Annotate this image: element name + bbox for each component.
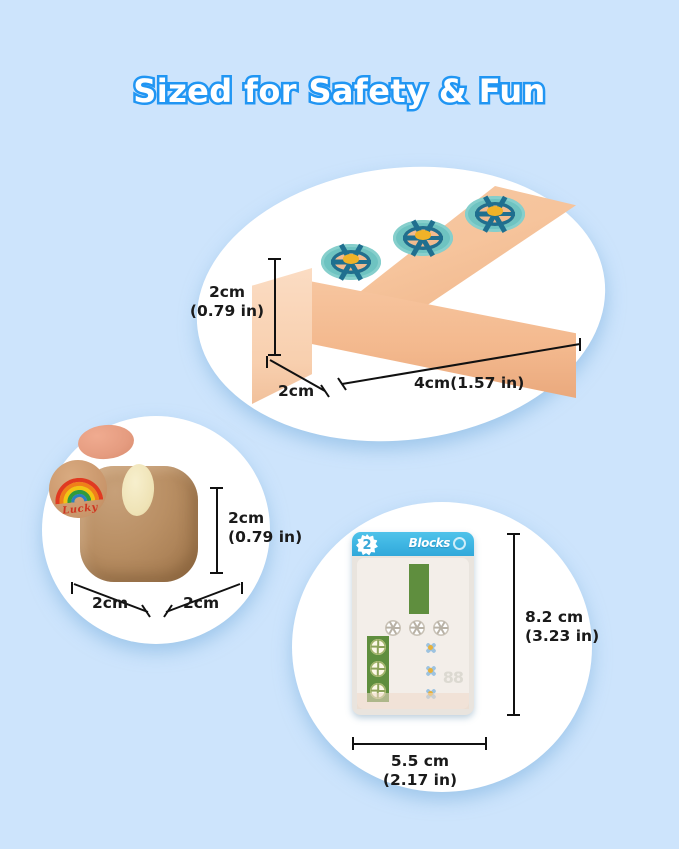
card-height-label-line2: (3.23 in): [525, 627, 599, 646]
die-face-front-rainbow: Lucky: [46, 457, 110, 521]
block-height-rule: [274, 258, 276, 355]
die-width-left-label: 2cm: [92, 594, 128, 613]
block-height-cap-top: [268, 258, 281, 260]
card-height-label-line1: 8.2 cm: [525, 608, 599, 627]
card-number-badge: 2: [356, 534, 378, 556]
wheel-medallion-icon: [393, 220, 453, 256]
card-width-label-line1: 5.5 cm: [352, 752, 488, 771]
block-depth-label: 2cm: [278, 382, 314, 401]
card-green-tall-block: [409, 564, 429, 614]
game-card: 2 Blocks: [352, 532, 474, 715]
card-header-bar: 2 Blocks: [352, 532, 474, 556]
wheel-medallion-icon: [321, 244, 381, 280]
die-width-right-text: 2cm: [183, 594, 219, 612]
block-height-label-line1: 2cm: [186, 283, 268, 302]
card-wheel-icon: [370, 661, 386, 677]
card-logo-text: Blocks: [409, 536, 450, 550]
block-height-label: 2cm (0.79 in): [186, 283, 268, 322]
die-width-left-text: 2cm: [92, 594, 128, 612]
card-width-cap-right: [485, 737, 487, 750]
block-height-label-line2: (0.79 in): [186, 302, 268, 321]
block-depth-label-text: 2cm: [278, 382, 314, 400]
card-flower-icon: [423, 663, 438, 678]
card-height-cap-bottom: [507, 714, 520, 716]
card-wheel-icon: [370, 639, 386, 655]
die-face-top: [77, 423, 136, 462]
card-face: 88: [357, 558, 469, 709]
wheel-medallion-icon: [465, 196, 525, 232]
card-wheel-icon: [385, 620, 401, 636]
block-length-label-text: 4cm(1.57 in): [414, 374, 524, 392]
card-width-label-line2: (2.17 in): [352, 771, 488, 790]
card-height-rule: [513, 533, 515, 715]
block-length-label: 4cm(1.57 in): [414, 374, 524, 393]
card-wheel-icon: [409, 620, 425, 636]
game-card-illustration: 2 Blocks: [292, 502, 592, 792]
card-width-label: 5.5 cm (2.17 in): [352, 752, 488, 791]
die-height-cap-top: [210, 487, 223, 489]
card-flower-icon: [423, 640, 438, 655]
card-width-cap-left: [352, 737, 354, 750]
card-footer-band: [357, 693, 469, 709]
card-wheel-icon: [433, 620, 449, 636]
page-title: Sized for Safety & Fun: [0, 72, 679, 110]
die-width-right-label: 2cm: [183, 594, 219, 613]
card-width-rule: [352, 743, 487, 745]
die-height-cap-bottom: [210, 572, 223, 574]
card-height-cap-top: [507, 533, 520, 535]
card-height-label: 8.2 cm (3.23 in): [525, 608, 599, 647]
card-watermark-text: 88: [443, 668, 463, 687]
die-height-rule: [216, 487, 218, 573]
